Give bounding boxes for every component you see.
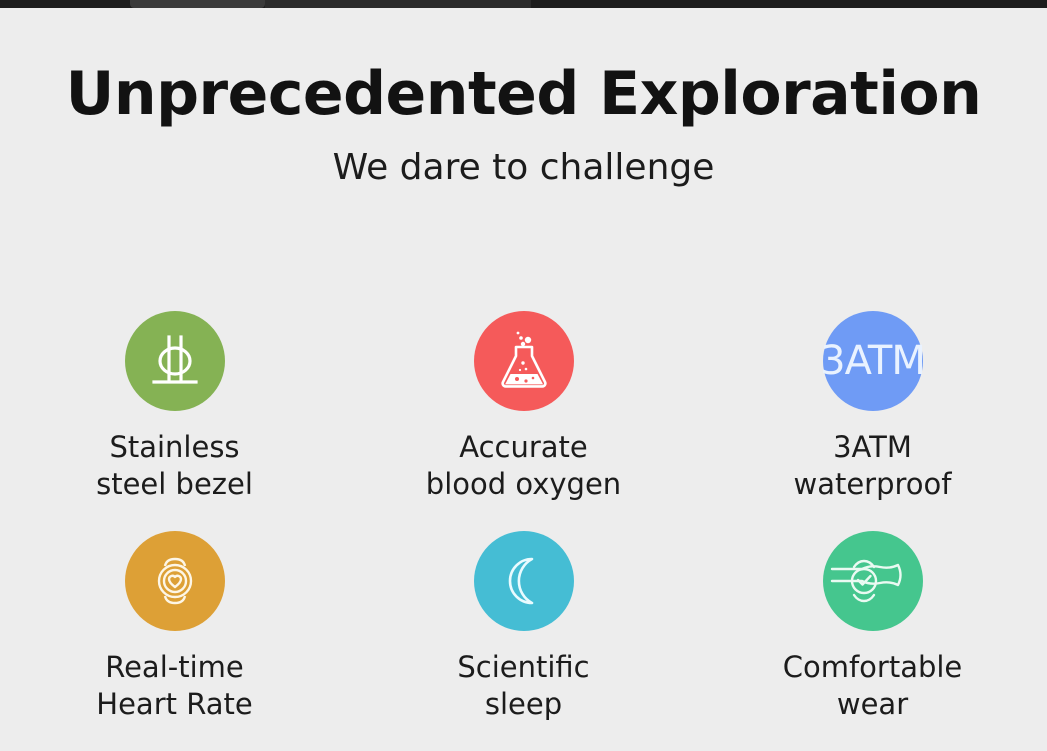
feature-label: Comfortable wear xyxy=(783,649,963,723)
feature-real-time-heart-rate: Real-time Heart Rate xyxy=(10,531,340,751)
feature-label: Scientific sleep xyxy=(457,649,589,723)
browser-address-strip xyxy=(265,0,531,8)
feature-icon-badge xyxy=(823,531,923,631)
feature-accurate-blood-oxygen: Accurate blood oxygen xyxy=(359,311,689,531)
flask-icon xyxy=(493,330,555,392)
feature-icon-badge xyxy=(125,311,225,411)
page-subtitle: We dare to challenge xyxy=(0,124,1047,186)
feature-3atm-waterproof: 3ATM 3ATM waterproof xyxy=(708,311,1038,531)
feature-label: 3ATM waterproof xyxy=(793,429,951,503)
feature-icon-badge xyxy=(474,531,574,631)
feature-stainless-steel-bezel: Stainless steel bezel xyxy=(10,311,340,531)
crescent-moon-icon xyxy=(494,551,554,611)
feature-icon-badge xyxy=(125,531,225,631)
stainless-bezel-icon xyxy=(144,330,206,392)
page-title: Unprecedented Exploration xyxy=(0,8,1047,124)
feature-grid: Stainless steel bezel xyxy=(0,311,1047,751)
browser-chrome-strip xyxy=(0,0,1047,8)
feature-icon-badge: 3ATM xyxy=(823,311,923,411)
watch-on-wrist-icon xyxy=(836,553,910,609)
feature-label: Stainless steel bezel xyxy=(96,429,253,503)
feature-label: Accurate blood oxygen xyxy=(426,429,621,503)
feature-label: Real-time Heart Rate xyxy=(96,649,252,723)
watch-heart-icon xyxy=(145,551,205,611)
product-feature-page: Unprecedented Exploration We dare to cha… xyxy=(0,8,1047,740)
browser-tab-strip xyxy=(130,0,265,8)
feature-icon-badge xyxy=(474,311,574,411)
3atm-text-icon: 3ATM xyxy=(820,341,925,381)
feature-scientific-sleep: Scientific sleep xyxy=(359,531,689,751)
feature-comfortable-wear: Comfortable wear xyxy=(708,531,1038,751)
